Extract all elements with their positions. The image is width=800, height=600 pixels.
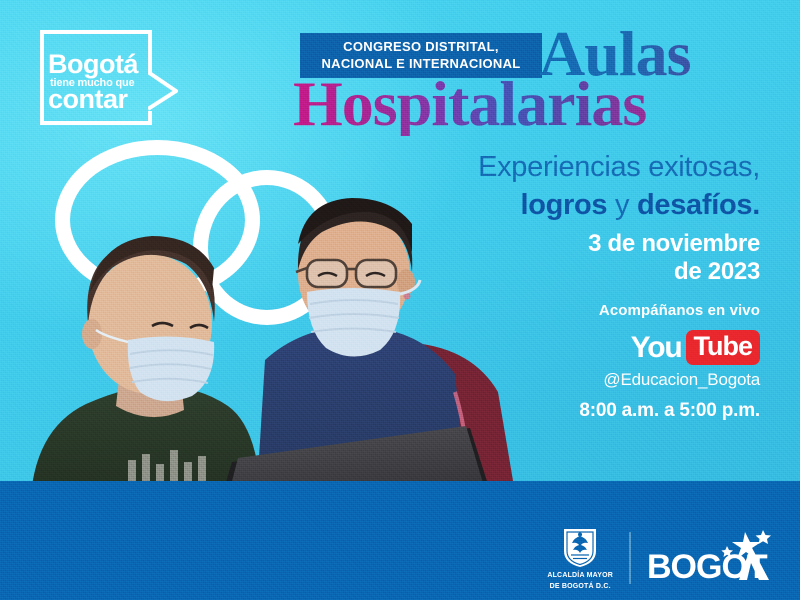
alcaldia-line1: ALCALDÍA MAYOR: [547, 572, 613, 580]
youtube-handle[interactable]: @Educacion_Bogota: [603, 370, 760, 390]
youtube-you-text: You: [631, 331, 682, 365]
subtitle-connector: y: [607, 189, 637, 221]
alcaldia-line2: DE BOGOTÁ D.C.: [550, 583, 611, 591]
alcaldia-mayor-logo: ALCALDÍA MAYOR DE BOGOTÁ D.C.: [547, 525, 613, 592]
poster-canvas: ALCALDÍA MAYOR DE BOGOTÁ D.C. BOGOT: [0, 0, 800, 600]
youtube-logo[interactable]: You Tube: [631, 330, 760, 365]
live-label: Acompáñanos en vivo: [599, 302, 760, 319]
bogota-tiene-mucho-que-contar-logo: Bogotá tiene mucho que contar: [40, 30, 152, 125]
subtitle-desafios: desafíos.: [637, 189, 760, 221]
event-date: 3 de noviembre de 2023: [588, 230, 760, 287]
logo-text-block: Bogotá tiene mucho que contar: [48, 52, 152, 112]
footer-divider: [629, 532, 631, 584]
bogota-coat-of-arms-icon: [558, 525, 602, 569]
bogota-wordmark-logo: BOGOT: [647, 528, 772, 588]
title-hospitalarias: Hospitalarias: [293, 72, 646, 136]
subtitle-logros: logros: [520, 189, 607, 221]
bubble-edge-bottom: [148, 111, 152, 125]
subtitle-line2: logros y desafíos.: [520, 188, 760, 222]
speech-bubble-tail-icon: [148, 72, 178, 111]
bogota-wordmark-icon: BOGOT: [647, 528, 772, 588]
logo-line-contar: contar: [48, 87, 152, 112]
event-hours: 8:00 a.m. a 5:00 p.m.: [579, 400, 760, 422]
footer-bar: ALCALDÍA MAYOR DE BOGOTÁ D.C. BOGOT: [0, 481, 800, 600]
subtitle-line1: Experiencias exitosas,: [478, 150, 760, 184]
event-date-line1: 3 de noviembre: [588, 230, 760, 258]
logo-line-bogota: Bogotá: [48, 52, 152, 77]
footer-logo-group: ALCALDÍA MAYOR DE BOGOTÁ D.C. BOGOT: [547, 524, 772, 592]
photo-boy-and-nurse-with-laptop: [0, 92, 545, 522]
ribbon-line1: CONGRESO DISTRITAL,: [343, 39, 499, 55]
event-date-line2: de 2023: [588, 258, 760, 286]
youtube-tube-badge: Tube: [686, 330, 761, 365]
